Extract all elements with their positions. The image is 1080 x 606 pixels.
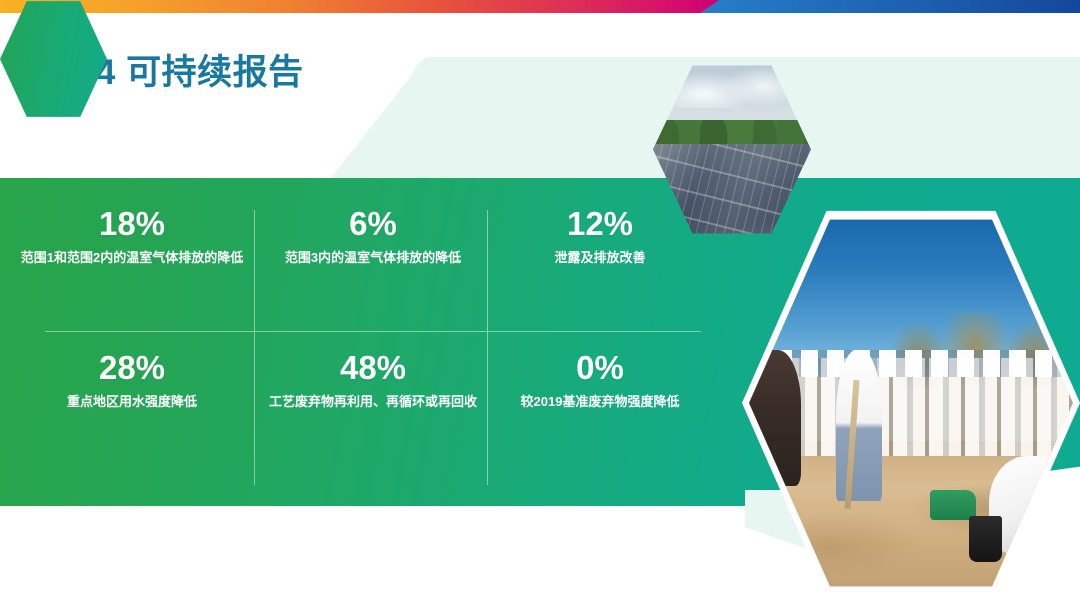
stat-description: 范围1和范围2内的温室气体排放的降低 bbox=[18, 249, 246, 268]
community-photo-watering-can bbox=[930, 490, 975, 520]
stat-description: 较2019基准废弃物强度降低 bbox=[495, 393, 705, 412]
stat-description: 范围3内的温室气体排放的降低 bbox=[262, 249, 484, 268]
community-photo-caps bbox=[749, 350, 1073, 376]
stat-value: 6% bbox=[262, 206, 484, 242]
stat-description: 泄露及排放改善 bbox=[495, 249, 705, 268]
stat-card: 28% 重点地区用水强度降低 bbox=[18, 350, 246, 412]
stat-card: 18% 范围1和范围2内的温室气体排放的降低 bbox=[18, 206, 246, 268]
community-photo-person bbox=[836, 350, 881, 501]
sustainability-report-slide: 2024 可持续报告 18% 范围1和范围2内的温室气体排放的降低 6% 范围3… bbox=[0, 0, 1080, 606]
stat-card: 0% 较2019基准废弃物强度降低 bbox=[495, 350, 705, 412]
grid-divider-vertical-2 bbox=[487, 210, 488, 485]
stats-grid: 18% 范围1和范围2内的温室气体排放的降低 6% 范围3内的温室气体排放的降低… bbox=[0, 190, 700, 480]
green-hexagon-accent bbox=[0, 0, 107, 118]
grid-divider-vertical-1 bbox=[254, 210, 255, 485]
community-photo-plant-pot bbox=[969, 516, 1001, 561]
stat-value: 28% bbox=[18, 350, 246, 386]
stat-description: 工艺废弃物再利用、再循环或再回收 bbox=[262, 393, 484, 412]
grid-divider-horizontal bbox=[45, 331, 701, 332]
top-gradient-bar bbox=[0, 0, 1080, 13]
stat-value: 18% bbox=[18, 206, 246, 242]
stat-card: 6% 范围3内的温室气体排放的降低 bbox=[262, 206, 484, 268]
stat-card: 48% 工艺废弃物再利用、再循环或再回收 bbox=[262, 350, 484, 412]
stat-value: 0% bbox=[495, 350, 705, 386]
stat-card: 12% 泄露及排放改善 bbox=[495, 206, 705, 268]
stat-description: 重点地区用水强度降低 bbox=[18, 393, 246, 412]
stat-value: 12% bbox=[495, 206, 705, 242]
stat-value: 48% bbox=[262, 350, 484, 386]
